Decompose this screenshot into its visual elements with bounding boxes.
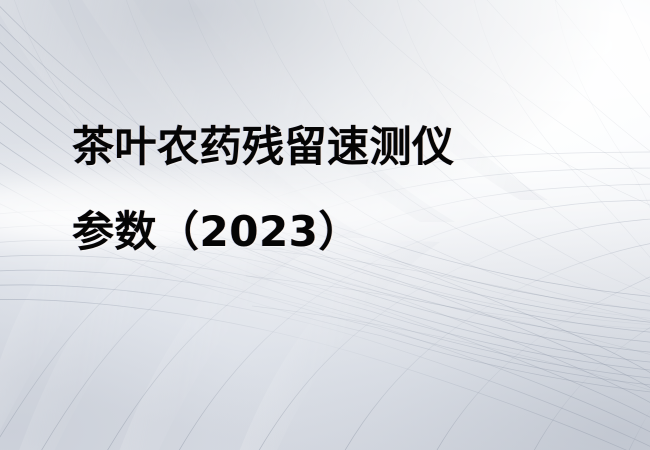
poster-canvas: 茶叶农药残留速测仪 参数（2023） [0, 0, 650, 450]
poster-title-block: 茶叶农药残留速测仪 参数（2023） [72, 126, 592, 253]
poster-title-line-1: 茶叶农药残留速测仪 [72, 126, 592, 168]
poster-title-line-2: 参数（2023） [72, 211, 592, 253]
